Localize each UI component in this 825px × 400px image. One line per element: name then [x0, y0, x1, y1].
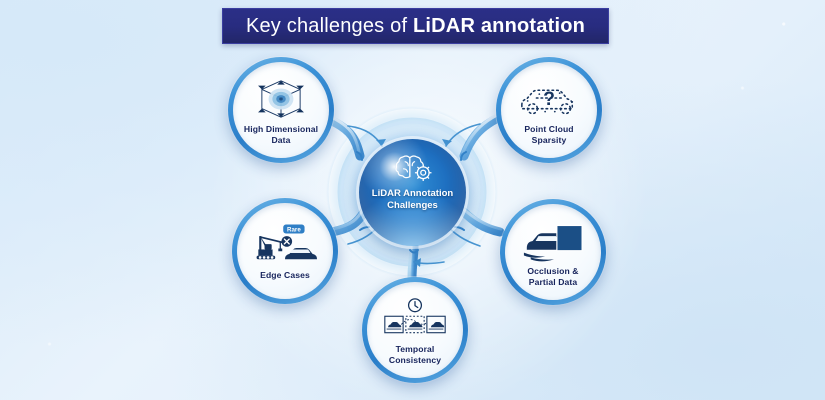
node-label-line1: Temporal [389, 344, 441, 355]
center-hub[interactable]: LiDAR Annotation Challenges [359, 139, 466, 246]
node-temporal-consistency[interactable]: Temporal Consistency [362, 277, 468, 383]
node-label-line1: Edge Cases [260, 270, 310, 281]
node-edge-cases[interactable]: Rare [232, 198, 338, 304]
node-inner: Rare [237, 203, 333, 299]
rare-badge: Rare [283, 225, 304, 234]
dotted-car-question-icon: ? [517, 77, 581, 121]
clock-frames-car-icon [383, 297, 447, 341]
car-occluded-block-icon [521, 219, 585, 263]
node-label-line2: Partial Data [527, 277, 578, 288]
hub-label: LiDAR Annotation Challenges [363, 188, 463, 212]
node-inner: Occlusion & Partial Data [505, 204, 601, 300]
node-inner: Temporal Consistency [367, 282, 463, 378]
question-mark: ? [543, 88, 555, 110]
node-label: High Dimensional Data [244, 124, 318, 145]
node-label-line2: Sparsity [524, 135, 573, 146]
node-high-dimensional-data[interactable]: High Dimensional Data [228, 57, 334, 163]
node-label: Occlusion & Partial Data [527, 266, 578, 287]
node-label: Edge Cases [260, 270, 310, 281]
rare-badge-label: Rare [287, 227, 301, 234]
clock-icon [409, 299, 422, 312]
node-label: Temporal Consistency [389, 344, 441, 365]
crane [257, 236, 283, 259]
node-label: Point Cloud Sparsity [524, 124, 573, 145]
node-inner: High Dimensional Data [233, 62, 329, 158]
node-label-line2: Consistency [389, 355, 441, 366]
hub-label-line2: Challenges [363, 200, 463, 212]
node-inner: ? Point Cloud Sparsity [501, 62, 597, 158]
cube-spiral-icon [249, 77, 313, 121]
node-label-line2: Data [244, 135, 318, 146]
node-label-line1: Occlusion & [527, 266, 578, 277]
excluded-marker [281, 236, 292, 247]
occluding-block [557, 225, 582, 250]
node-label-line1: High Dimensional [244, 124, 318, 135]
node-label-line1: Point Cloud [524, 124, 573, 135]
hub-label-line1: LiDAR Annotation [363, 188, 463, 200]
crane-car-rare-icon: Rare [253, 223, 317, 267]
infographic-canvas: Key challenges of LiDAR annotation [0, 0, 825, 400]
brain-gear-icon [391, 152, 435, 184]
node-point-cloud-sparsity[interactable]: ? Point Cloud Sparsity [496, 57, 602, 163]
frame-sequence [385, 316, 445, 332]
node-occlusion-partial-data[interactable]: Occlusion & Partial Data [500, 199, 606, 305]
car [285, 248, 317, 259]
